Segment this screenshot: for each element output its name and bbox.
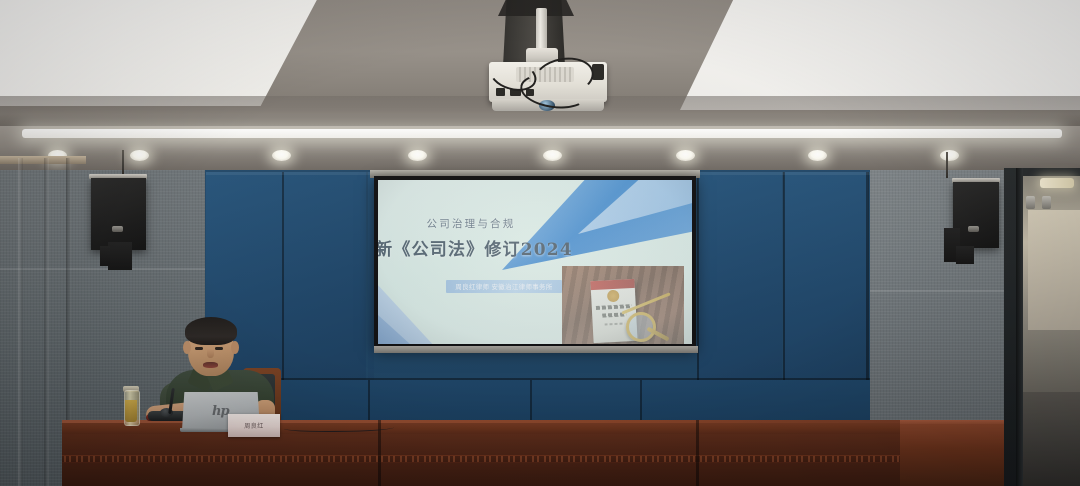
presenter-ear-right [231,341,239,354]
conference-room-scene: 公司治理与合规 新《公司法》修订2024 周良红律师 安徽治江律师事务所 [0,0,1080,486]
downlight-4 [543,150,562,161]
curtain-fold-1 [18,158,23,486]
screen-weight-bar [374,346,698,353]
speaker-left-wire [122,150,124,174]
blue-panel-seam-1 [282,172,284,412]
downlight-5 [676,150,695,161]
slide-presenter-text: 周良红律师 安徽治江律师事务所 [455,282,552,291]
speaker-left-badge [112,226,123,232]
curtain-fold-2 [44,158,49,486]
downlight-1 [130,150,149,161]
linear-light-strip [22,129,1062,138]
speaker-left-bracket-arm [100,246,110,266]
projector-power-brick [592,64,604,80]
slide-photo-haze [562,266,684,344]
corridor-light [1040,178,1074,188]
blue-panel-3 [784,172,868,412]
downlight-2 [272,150,291,161]
nameplate-text: 周良红 [244,421,264,430]
laptop-brand-logo: hp [212,404,229,419]
wall-speaker-left [91,178,146,250]
blue-panel-2 [698,172,782,412]
tea-liquid [125,400,137,422]
presenter-brow-left [194,341,204,343]
corridor-wall [1028,210,1080,330]
door-mullion [1016,168,1023,486]
projection-screen: 公司治理与合规 新《公司法》修订2024 周良红律师 安徽治江律师事务所 [378,180,692,344]
presenter-hair [185,317,237,345]
slide-photo-lawbook [562,266,684,344]
speaker-right-wire [946,152,948,178]
speaker-right-bracket-arm [956,246,974,264]
presenter-eye-right [215,347,223,350]
nameplate: 周良红 [228,414,280,437]
presenter-mouth [203,362,218,368]
speaker-right-badge [968,226,979,232]
slide-presenter-band: 周良红律师 安徽治江律师事务所 [446,280,562,293]
slide-title: 新《公司法》修订2024 [378,235,574,260]
corridor-floor [1022,392,1080,486]
projector-port-a [496,88,505,96]
downlight-3 [408,150,427,161]
speaker-left-bracket [108,242,132,270]
presenter-brow-right [214,341,224,343]
downlight-7 [940,150,959,161]
door-hinge-top [1026,196,1035,209]
ceiling-light-panel-right [680,0,1080,110]
presenter-ear-left [183,341,191,354]
downlight-6 [808,150,827,161]
presenter-nose [207,348,214,358]
door-hinge-top-2 [1042,196,1051,209]
podium-desk-seam-2 [696,420,699,486]
presenter-eye-left [195,347,203,350]
slide-eyebrow: 公司治理与合规 [378,216,564,231]
wall-right-seam [865,290,1010,292]
